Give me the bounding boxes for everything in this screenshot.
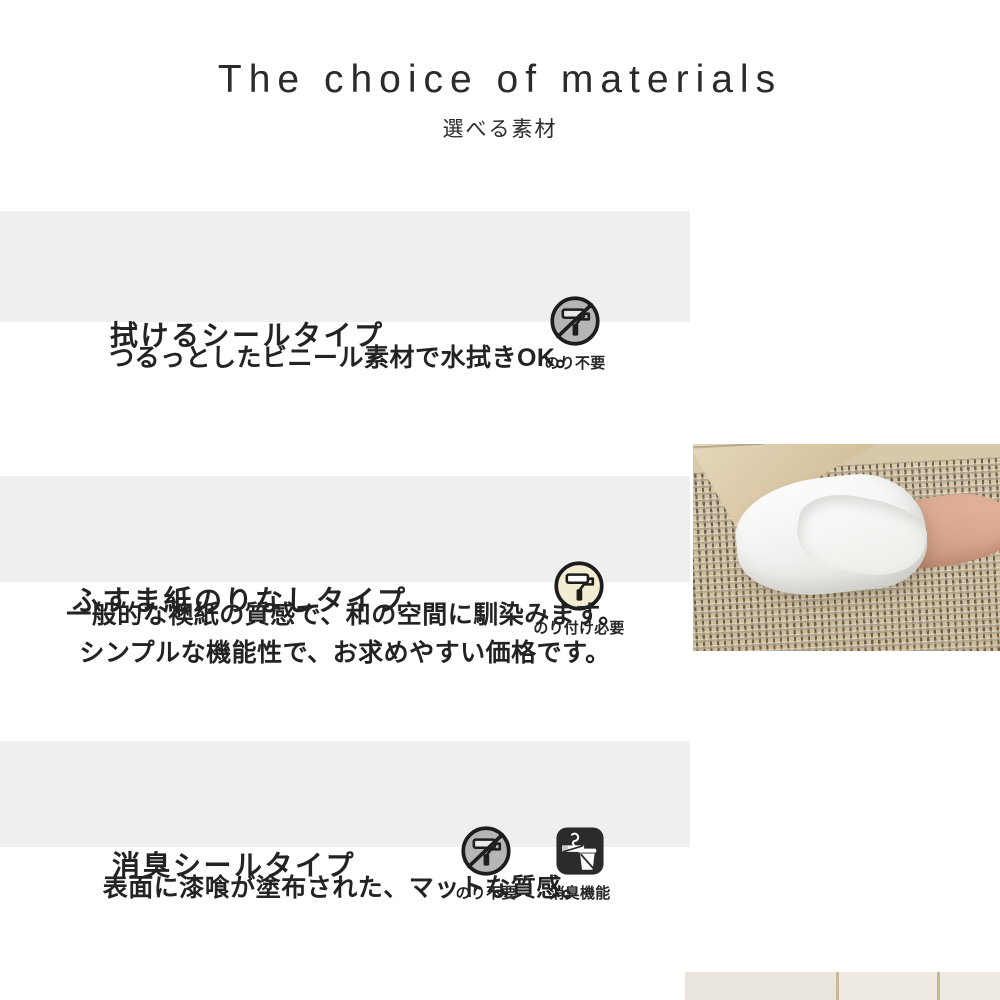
material-section-fusuma-paper-no-glue-type: ふすま紙のりなしタイプ のり付け必要 一般的な襖紙の質感で、和の空間に馴染みます… <box>0 476 1000 721</box>
material-section-deodorizing-seal-type: 消臭シールタイプ のり不要 <box>0 741 1000 986</box>
section-body-text: つるっとしたビニール素材で水拭きOK。 <box>0 339 690 377</box>
floor-seam <box>693 444 764 448</box>
page-subtitle: 選べる素材 <box>0 113 1000 143</box>
materials-choice-page: The choice of materials 選べる素材 拭けるシールタイプ <box>0 0 1000 1000</box>
body-line: シンプルな機能性で、お求めやすい価格です。 <box>0 634 690 672</box>
body-line: 表面に漆喰が塗布された、マットな質感。 <box>0 869 690 907</box>
section-body-text: 表面に漆喰が塗布された、マットな質感。 <box>0 869 690 907</box>
page-title: The choice of materials <box>0 58 1000 102</box>
page-header: The choice of materials 選べる素材 <box>0 0 1000 200</box>
section-body-text: 一般的な襖紙の質感で、和の空間に馴染みます。 シンプルな機能性で、お求めやすい価… <box>0 596 690 672</box>
material-section-wipeable-seal-type: 拭けるシールタイプ のり不要 つるっとしたビニール素材で水拭きOK。 <box>0 211 1000 456</box>
body-line: 一般的な襖紙の質感で、和の空間に馴染みます。 <box>0 596 690 634</box>
body-line: つるっとしたビニール素材で水拭きOK。 <box>0 339 690 377</box>
